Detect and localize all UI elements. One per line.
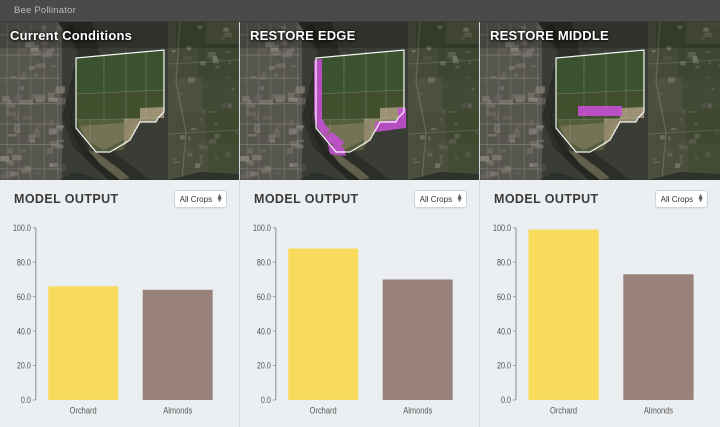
svg-text:Almonds: Almonds [403, 405, 432, 416]
bar-chart-restore-edge[interactable]: 0.020.040.060.080.0100.0OrchardAlmonds [246, 218, 473, 427]
svg-text:40.0: 40.0 [257, 327, 271, 337]
svg-text:40.0: 40.0 [497, 327, 511, 337]
svg-text:Almonds: Almonds [163, 405, 192, 416]
crop-filter-label: All Crops [661, 195, 693, 204]
crop-filter-select-restore-middle[interactable]: All Crops ▲▼ [655, 190, 708, 208]
map-view-restore-middle[interactable]: RESTORE MIDDLE [480, 22, 720, 180]
chart-header: MODEL OUTPUT All Crops ▲▼ [6, 180, 233, 218]
chart-header: MODEL OUTPUT All Crops ▲▼ [486, 180, 714, 218]
scenario-panel-restore-edge: RESTORE EDGE MODEL OUTPUT All Crops ▲▼ 0… [240, 22, 480, 427]
svg-text:Orchard: Orchard [310, 405, 337, 416]
stepper-arrows-icon: ▲▼ [456, 195, 463, 204]
section-title: MODEL OUTPUT [14, 192, 119, 206]
svg-text:20.0: 20.0 [497, 361, 511, 371]
map-title: Current Conditions [10, 28, 132, 43]
svg-text:60.0: 60.0 [17, 292, 31, 302]
svg-text:100.0: 100.0 [253, 223, 271, 233]
svg-text:Almonds: Almonds [644, 405, 673, 416]
svg-text:20.0: 20.0 [17, 361, 31, 371]
map-view-current-conditions[interactable]: Current Conditions [0, 22, 239, 180]
top-bar: Bee Pollinator [0, 0, 720, 22]
svg-text:Orchard: Orchard [70, 405, 97, 416]
svg-text:100.0: 100.0 [493, 223, 511, 233]
map-view-restore-edge[interactable]: RESTORE EDGE [240, 22, 479, 180]
scenario-panel-restore-middle: RESTORE MIDDLE MODEL OUTPUT All Crops ▲▼… [480, 22, 720, 427]
crop-filter-label: All Crops [420, 195, 452, 204]
crop-filter-label: All Crops [180, 195, 212, 204]
svg-text:20.0: 20.0 [257, 361, 271, 371]
svg-text:80.0: 80.0 [497, 258, 511, 268]
svg-text:80.0: 80.0 [257, 258, 271, 268]
svg-text:100.0: 100.0 [13, 223, 31, 233]
section-title: MODEL OUTPUT [254, 192, 359, 206]
app-root: Bee Pollinator Current Conditions MODEL … [0, 0, 720, 427]
stepper-arrows-icon: ▲▼ [697, 195, 704, 204]
svg-text:0.0: 0.0 [21, 395, 31, 405]
svg-text:60.0: 60.0 [257, 292, 271, 302]
bar-chart-current-conditions[interactable]: 0.020.040.060.080.0100.0OrchardAlmonds [6, 218, 233, 427]
map-title: RESTORE MIDDLE [490, 28, 609, 43]
svg-text:0.0: 0.0 [501, 395, 511, 405]
svg-text:60.0: 60.0 [497, 292, 511, 302]
section-title: MODEL OUTPUT [494, 192, 599, 206]
map-title: RESTORE EDGE [250, 28, 355, 43]
svg-text:0.0: 0.0 [261, 395, 271, 405]
svg-text:40.0: 40.0 [17, 327, 31, 337]
model-output-block-restore-middle: MODEL OUTPUT All Crops ▲▼ 0.020.040.060.… [480, 180, 720, 427]
crop-filter-select-restore-edge[interactable]: All Crops ▲▼ [414, 190, 467, 208]
chart-header: MODEL OUTPUT All Crops ▲▼ [246, 180, 473, 218]
scenario-panel-current-conditions: Current Conditions MODEL OUTPUT All Crop… [0, 22, 240, 427]
crop-filter-select-current-conditions[interactable]: All Crops ▲▼ [174, 190, 227, 208]
svg-text:80.0: 80.0 [17, 258, 31, 268]
model-output-block-current-conditions: MODEL OUTPUT All Crops ▲▼ 0.020.040.060.… [0, 180, 239, 427]
stepper-arrows-icon: ▲▼ [216, 195, 223, 204]
scenario-panels: Current Conditions MODEL OUTPUT All Crop… [0, 22, 720, 427]
svg-text:Orchard: Orchard [550, 405, 577, 416]
model-output-block-restore-edge: MODEL OUTPUT All Crops ▲▼ 0.020.040.060.… [240, 180, 479, 427]
bar-chart-restore-middle[interactable]: 0.020.040.060.080.0100.0OrchardAlmonds [486, 218, 714, 427]
app-title: Bee Pollinator [14, 5, 76, 16]
